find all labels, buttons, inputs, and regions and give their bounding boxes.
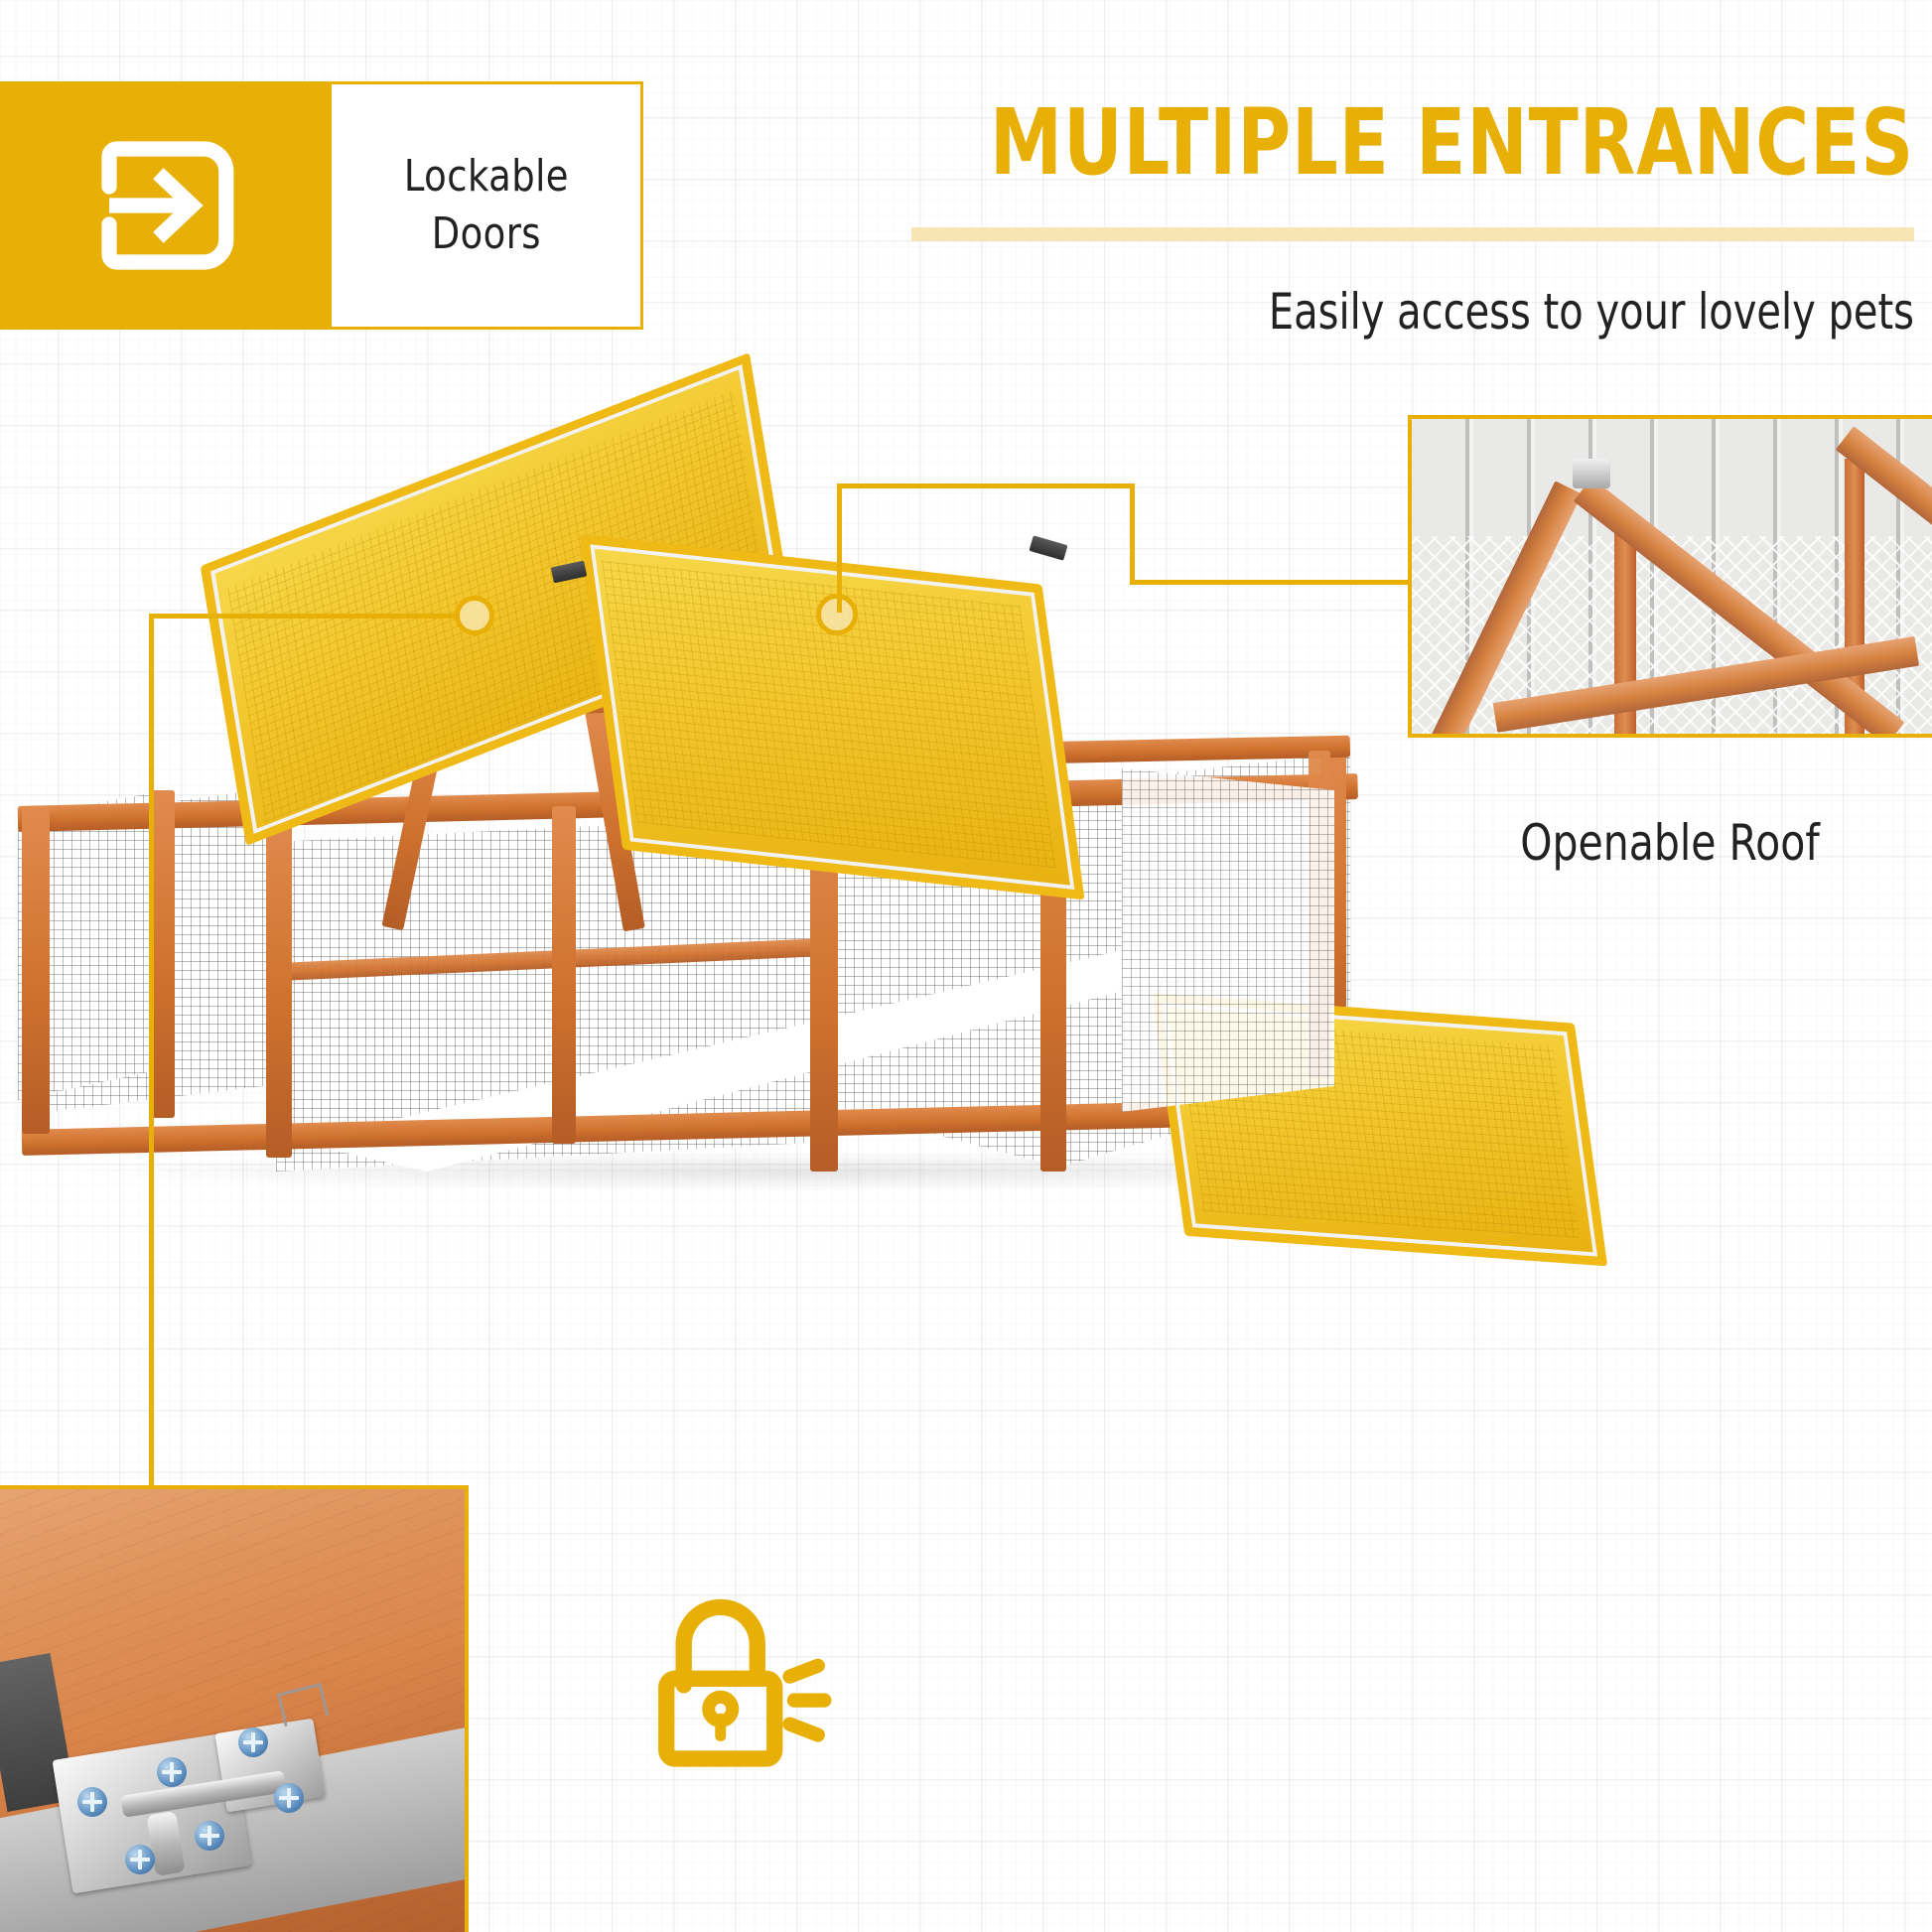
door-with-arrow-icon <box>71 111 260 300</box>
openable-roof-inset-photo <box>1408 415 1932 738</box>
latch-screw-6 <box>274 1783 304 1813</box>
frame-post-1 <box>22 806 50 1134</box>
open-padlock-icon <box>627 1573 844 1789</box>
header-block: MULTIPLE ENTRANCES Easily access to your… <box>695 95 1914 341</box>
frame-post-3 <box>266 810 292 1158</box>
latch-screw-2 <box>157 1757 187 1787</box>
header-divider <box>911 227 1914 241</box>
badge-icon-container <box>0 81 332 330</box>
lockable-door-latch-inset-photo <box>0 1485 469 1932</box>
latch-screw-5 <box>238 1727 268 1757</box>
roof-right-callout-h <box>837 483 1135 488</box>
roof-right-callout-v <box>837 483 842 613</box>
badge-label: Lockable Doors <box>403 148 568 263</box>
badge-text-container: Lockable Doors <box>332 81 643 330</box>
page-subtitle: Easily access to your lovely pets <box>939 283 1914 341</box>
latch-screw-1 <box>77 1787 107 1817</box>
latch-screw-4 <box>195 1821 224 1851</box>
latch-screw-3 <box>125 1845 155 1874</box>
frame-post-4 <box>552 806 576 1144</box>
badge-label-line1: Lockable <box>403 151 568 202</box>
roof-left-callout-h <box>149 614 459 619</box>
inset-roof-hinge <box>1573 459 1610 488</box>
roof-right-callout-h2 <box>1130 580 1414 585</box>
page-title: MULTIPLE ENTRANCES <box>939 95 1914 192</box>
lockable-doors-badge: Lockable Doors <box>0 81 643 330</box>
badge-label-line2: Doors <box>431 208 540 259</box>
openable-roof-caption: Openable Roof <box>1455 814 1885 872</box>
roof-left-callout-dot <box>455 596 494 635</box>
right-open-door-mesh <box>1122 768 1334 1112</box>
roof-right-callout-v2 <box>1130 483 1135 583</box>
roof-panel-right-hinge <box>1029 535 1067 560</box>
roof-left-callout-v <box>149 614 154 1487</box>
